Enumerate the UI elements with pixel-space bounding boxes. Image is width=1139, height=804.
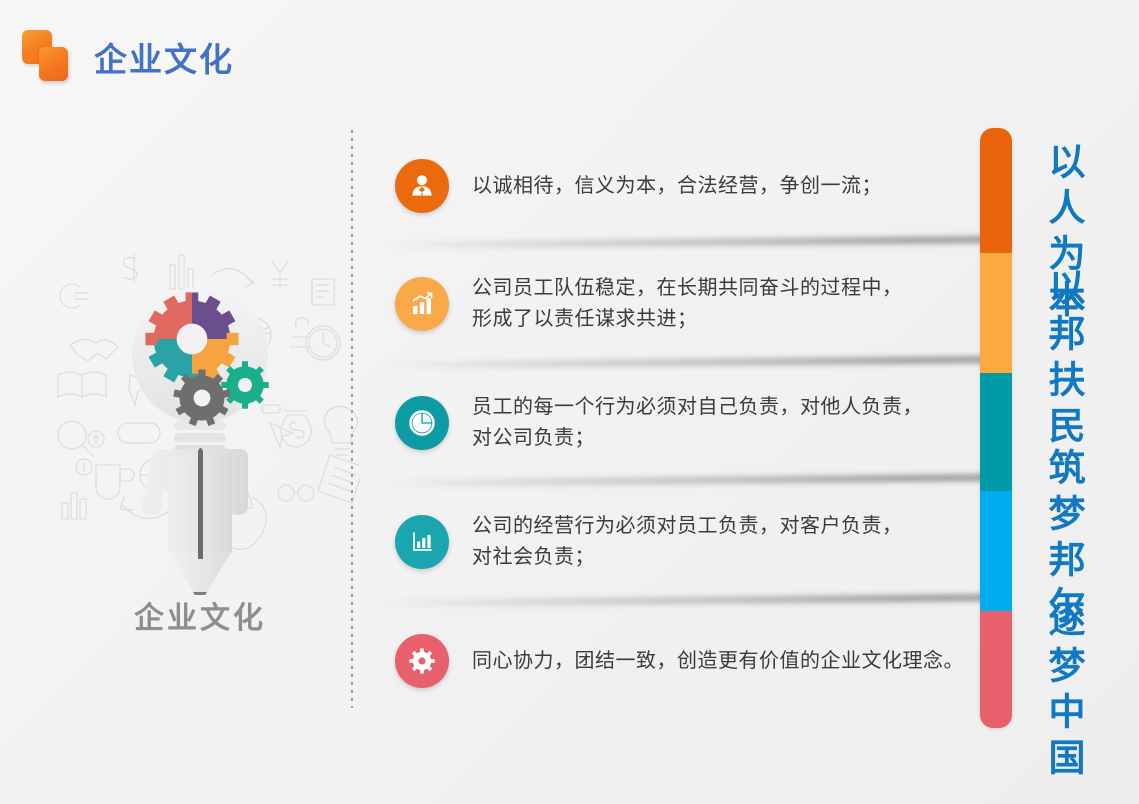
page-title: 企业文化 xyxy=(94,33,234,81)
list-item-line: 对公司负责； xyxy=(472,423,974,454)
list-item-text: 公司员工队伍稳定，在长期共同奋斗的过程中， 形成了以责任谋求共进； xyxy=(472,273,984,335)
list-item[interactable]: 员工的每一个行为必须对自己负责，对他人负责， 对公司负责； xyxy=(372,364,984,482)
colorbar-segment-cyan xyxy=(980,491,1012,611)
slogan-column-2: 以邦扶民 xyxy=(1032,268,1094,452)
growth-bar-chart-icon xyxy=(395,277,449,331)
list-item[interactable]: 公司的经营行为必须对员工负责，对客户负责， 对社会负责； xyxy=(372,482,984,602)
colorbar-segment-amber xyxy=(980,253,1012,373)
list-item[interactable]: 公司员工队伍稳定，在长期共同奋斗的过程中， 形成了以责任谋求共进； xyxy=(372,244,984,364)
two-orange-squares-logo-icon xyxy=(22,30,70,82)
list-item-line: 以诚相待，信义为本，合法经营，争创一流； xyxy=(472,171,974,202)
list-item[interactable]: 以诚相待，信义为本，合法经营，争创一流； xyxy=(372,128,984,244)
list-item-line: 形成了以责任谋求共进； xyxy=(472,304,974,335)
lightbulb-gears-pencil-idea-icon xyxy=(40,235,360,595)
colorbar-segment-red xyxy=(980,611,1012,728)
slogan-column-4: 逐梦中国 xyxy=(1032,600,1094,784)
person-icon xyxy=(395,159,449,213)
list-item-text: 员工的每一个行为必须对自己负责，对他人负责， 对公司负责； xyxy=(472,392,984,454)
colorbar-segment-orange xyxy=(980,128,1012,253)
left-illustration-panel: 企业文化 xyxy=(40,235,360,655)
list-item-line: 对社会负责； xyxy=(472,542,974,573)
list-item-text: 公司的经营行为必须对员工负责，对客户负责， 对社会负责； xyxy=(472,511,984,573)
illustration-caption: 企业文化 xyxy=(40,593,360,637)
logo-square-front xyxy=(39,47,68,81)
list-item-icon-cell xyxy=(372,277,472,331)
list-item-text: 同心协力，团结一致，创造更有价值的企业文化理念。 xyxy=(472,646,984,677)
vertical-slogan-4: 逐梦中国 xyxy=(1032,600,1102,804)
slide-canvas: 企业文化 xyxy=(0,0,1139,804)
culture-statement-list: 以诚相待，信义为本，合法经营，争创一流； 公司员工队伍稳定，在长期共同奋 xyxy=(372,128,984,728)
list-item-text: 以诚相待，信义为本，合法经营，争创一流； xyxy=(472,171,984,202)
list-item-line: 同心协力，团结一致，创造更有价值的企业文化理念。 xyxy=(472,646,974,677)
list-item-icon-cell xyxy=(372,515,472,569)
list-item-icon-cell xyxy=(372,634,472,688)
pie-chart-icon xyxy=(395,396,449,450)
color-legend-bar xyxy=(980,128,1012,728)
colorbar-segment-teal xyxy=(980,373,1012,491)
list-item-line: 公司的经营行为必须对员工负责，对客户负责， xyxy=(472,511,974,542)
vertical-dotted-divider xyxy=(351,130,353,708)
list-item-line: 员工的每一个行为必须对自己负责，对他人负责， xyxy=(472,392,974,423)
list-item-line: 公司员工队伍稳定，在长期共同奋斗的过程中， xyxy=(472,273,974,304)
list-item-icon-cell xyxy=(372,396,472,450)
list-item[interactable]: 同心协力，团结一致，创造更有价值的企业文化理念。 xyxy=(372,602,984,720)
list-item-icon-cell xyxy=(372,159,472,213)
slide-header: 企业文化 xyxy=(0,0,1139,118)
bar-chart-icon xyxy=(395,515,449,569)
gear-icon xyxy=(395,634,449,688)
